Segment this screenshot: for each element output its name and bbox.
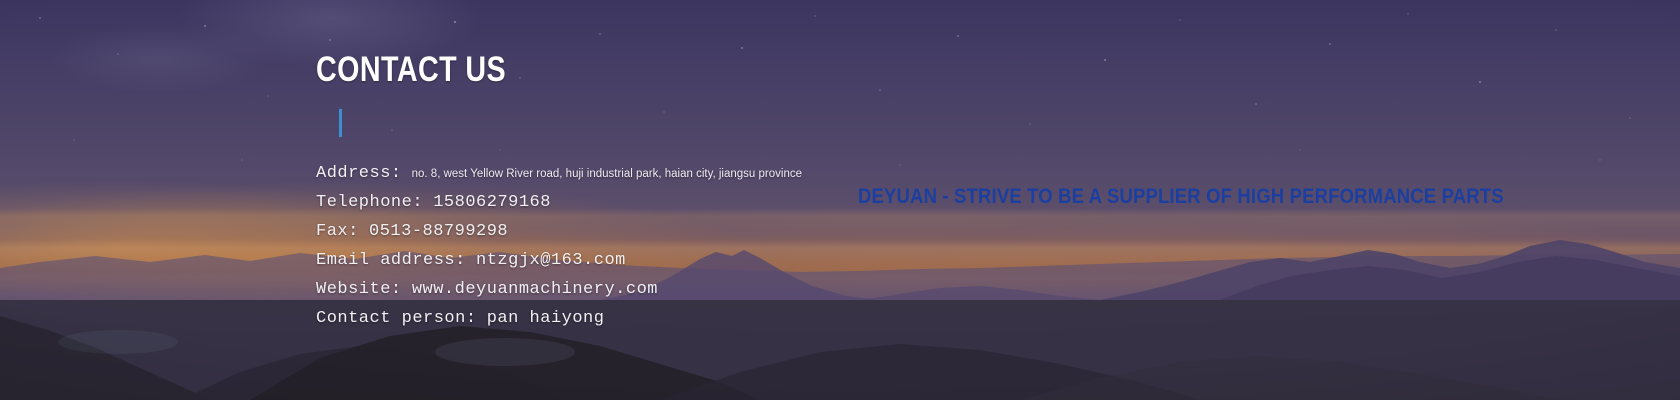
contact-row-website: Website: www.deyuanmachinery.com: [316, 275, 956, 304]
address-label: Address:: [316, 159, 402, 188]
website-label: Website:: [316, 280, 402, 299]
contact-person-label: Contact person:: [316, 309, 477, 328]
contact-row-email: Email address: ntzgjx@163.com: [316, 246, 956, 275]
telephone-value[interactable]: 15806279168: [433, 193, 551, 212]
email-value[interactable]: ntzgjx@163.com: [476, 251, 626, 270]
fax-value: 0513-88799298: [369, 222, 508, 241]
email-label: Email address:: [316, 251, 466, 270]
banner-content: CONTACT US Address: no. 8, west Yellow R…: [0, 0, 1680, 400]
title-accent-bar: [339, 109, 342, 137]
contact-banner: CONTACT US Address: no. 8, west Yellow R…: [0, 0, 1680, 400]
contact-row-fax: Fax: 0513-88799298: [316, 217, 956, 246]
company-slogan: DEYUAN - STRIVE TO BE A SUPPLIER OF HIGH…: [858, 185, 1504, 209]
contact-row-contact-person: Contact person: pan haiyong: [316, 304, 956, 333]
fax-label: Fax:: [316, 222, 359, 241]
address-value: no. 8, west Yellow River road, huji indu…: [412, 167, 802, 181]
website-value[interactable]: www.deyuanmachinery.com: [412, 280, 658, 299]
contact-row-address: Address: no. 8, west Yellow River road, …: [316, 159, 956, 188]
page-title: CONTACT US: [316, 52, 841, 87]
contact-person-value: pan haiyong: [487, 309, 605, 328]
telephone-label: Telephone:: [316, 193, 423, 212]
